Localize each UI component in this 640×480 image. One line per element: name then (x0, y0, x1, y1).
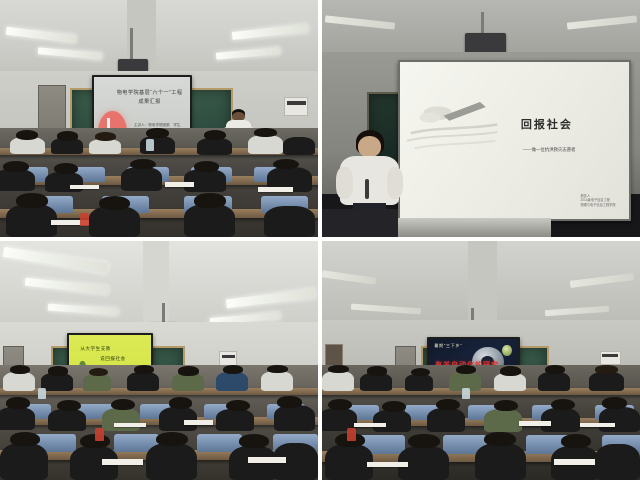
audience-head (3, 161, 28, 172)
audience-member (184, 169, 225, 192)
audience (0, 365, 318, 480)
photo-bottom-left[interactable]: 从大学生支教 说回报社会 主讲人：电子信息工程 专业 指导老师：物理与电子信息工… (0, 241, 318, 480)
photo-bottom-right[interactable]: 暑期“三下乡” 有关自动化的研究 调研汇报 报告人：电子信息工程 (322, 241, 640, 480)
audience-member (229, 446, 277, 480)
audience-member (405, 374, 434, 390)
university-emblem-icon (502, 345, 512, 356)
audience-member (48, 409, 86, 431)
audience-head (146, 128, 168, 138)
audience-member (322, 371, 354, 391)
audience-head (273, 159, 298, 170)
audience-member (140, 136, 175, 155)
water-bottle (95, 428, 103, 441)
audience-head (239, 434, 269, 448)
slide-title: 物电学院基层“六个一”工程 成果汇报 (115, 89, 184, 107)
audience-head (328, 365, 349, 373)
audience-head (328, 399, 352, 410)
audience-head (89, 368, 108, 377)
audience-head (10, 365, 31, 374)
ceiling (0, 0, 318, 81)
audience-member (599, 407, 640, 432)
audience-head (95, 132, 116, 141)
slide-subtitle: ——做一位抗洪救灾志愿者 (478, 147, 620, 153)
slide-title-line-1: 从大学生支教 (80, 346, 111, 352)
audience-member (322, 408, 357, 431)
projector-arm (481, 12, 484, 36)
audience-member (538, 372, 570, 390)
presenter-head (358, 136, 381, 157)
water-bottle (38, 388, 46, 398)
presenter-arm (336, 167, 353, 199)
audience-head (602, 397, 627, 408)
audience-head (277, 396, 302, 407)
audience-head (99, 196, 131, 210)
slide-credit: 报告人 2014级电子信息工程 物理与电子信息工程学院 (580, 194, 615, 208)
paper-sheet (554, 459, 595, 465)
audience (0, 128, 318, 237)
audience-member (0, 169, 35, 191)
photo-top-right[interactable]: 回报社会 ——做一位抗洪救灾志愿者 报告人 2014级电子信息工程 物理与电子信… (322, 0, 640, 237)
audience-member (261, 371, 293, 391)
audience-head (111, 399, 135, 410)
paper-sheet (70, 185, 99, 189)
audience-head (408, 434, 440, 448)
audience-head (57, 131, 78, 140)
lectern-desk (386, 218, 551, 237)
audience-head (54, 163, 78, 174)
slide-title-line-2: 成果汇报 (115, 98, 184, 107)
audience-head (226, 400, 250, 411)
audience-member (264, 206, 315, 237)
audience-member (6, 204, 57, 237)
audience-head (551, 399, 575, 410)
paper-sheet (367, 462, 408, 468)
audience-member (89, 139, 121, 154)
audience-member (172, 373, 204, 390)
audience-head (204, 130, 226, 140)
audience-member (83, 374, 112, 390)
audience-member (283, 137, 315, 156)
audience-head (16, 193, 48, 207)
paper-sheet (165, 182, 194, 186)
audience-member (184, 204, 235, 237)
audience-head (10, 432, 40, 446)
audience-member (216, 372, 248, 390)
audience-member (0, 407, 35, 430)
audience-head (484, 432, 516, 446)
projection-screen: 回报社会 ——做一位抗洪救灾志愿者 报告人 2014级电子信息工程 物理与电子信… (400, 62, 629, 218)
paper-sheet (102, 459, 143, 465)
audience-head (382, 401, 406, 412)
audience-member (373, 410, 411, 432)
slide-header: 暑期“三下乡” (434, 343, 462, 349)
audience-member (541, 408, 579, 432)
audience-head (223, 365, 244, 374)
audience-member (427, 408, 465, 432)
audience-member (146, 443, 197, 480)
audience-member (197, 138, 232, 155)
paper-sheet (248, 457, 286, 463)
audience-member (121, 167, 162, 191)
audience-head (48, 366, 69, 375)
audience-member (484, 409, 522, 432)
audience-head (411, 368, 430, 377)
photo-top-left[interactable]: 物电学院基层“六个一”工程 成果汇报 主讲人：物电学院团委 学生会 (0, 0, 318, 237)
wall-poster (600, 351, 621, 365)
audience-head (16, 130, 38, 140)
paper-sheet (184, 420, 213, 425)
audience-head (57, 400, 81, 411)
audience-member (589, 372, 624, 390)
audience-member (360, 373, 392, 390)
audience-member (595, 444, 640, 480)
audience-head (267, 365, 288, 373)
audience-head (367, 366, 388, 375)
microphone-icon (365, 179, 368, 198)
audience-head (130, 159, 155, 170)
audience-member (89, 206, 140, 237)
slide-content: 回报社会 ——做一位抗洪救灾志愿者 报告人 2014级电子信息工程 物理与电子信… (400, 62, 629, 218)
wall-poster (284, 97, 308, 116)
audience-member (0, 443, 48, 480)
audience-head (178, 366, 199, 375)
audience-member (475, 443, 526, 480)
audience-member (159, 407, 197, 431)
water-bottle (80, 213, 90, 226)
audience-head (494, 400, 518, 411)
paper-sheet (519, 421, 551, 426)
audience-head (169, 397, 193, 408)
audience-member (45, 172, 83, 193)
audience-member (274, 405, 315, 430)
audience-member (494, 373, 526, 390)
audience-head (134, 365, 155, 374)
audience-head (500, 366, 521, 375)
paper-sheet (258, 187, 293, 192)
water-bottle (347, 428, 355, 441)
slide-title-line-1: 物电学院基层“六个一”工程 (115, 89, 184, 98)
projection-screen-frame: 回报社会 ——做一位抗洪救灾志愿者 报告人 2014级电子信息工程 物理与电子信… (398, 60, 631, 220)
audience-head (6, 397, 30, 408)
slide-credit-line-3: 物理与电子信息工程学院 (580, 203, 615, 208)
audience-head (545, 365, 566, 374)
audience-member (216, 409, 254, 431)
audience-member (248, 135, 283, 155)
paper-sheet (354, 423, 386, 428)
audience-head (436, 399, 460, 410)
audience-head (254, 128, 276, 137)
water-bottle (146, 139, 154, 151)
slide-title: 回报社会 (478, 116, 615, 132)
audience-head (595, 365, 617, 374)
photo-collage: 物电学院基层“六个一”工程 成果汇报 主讲人：物电学院团委 学生会 (0, 0, 640, 480)
audience-member (41, 373, 73, 390)
audience (322, 365, 640, 480)
water-bottle (462, 388, 470, 398)
audience-member (127, 372, 159, 390)
foreground-shadow (322, 209, 398, 237)
audience-member (3, 372, 35, 390)
projector-arm (130, 28, 133, 61)
audience-head (456, 365, 477, 374)
audience-head (561, 434, 591, 448)
paper-sheet (580, 423, 615, 428)
paper-sheet (114, 423, 146, 428)
presenter-arm (387, 167, 404, 199)
audience-head (194, 161, 219, 172)
slide-title-line-2: 说回报社会 (100, 356, 125, 362)
audience-head (194, 193, 226, 207)
audience-head (156, 432, 188, 446)
